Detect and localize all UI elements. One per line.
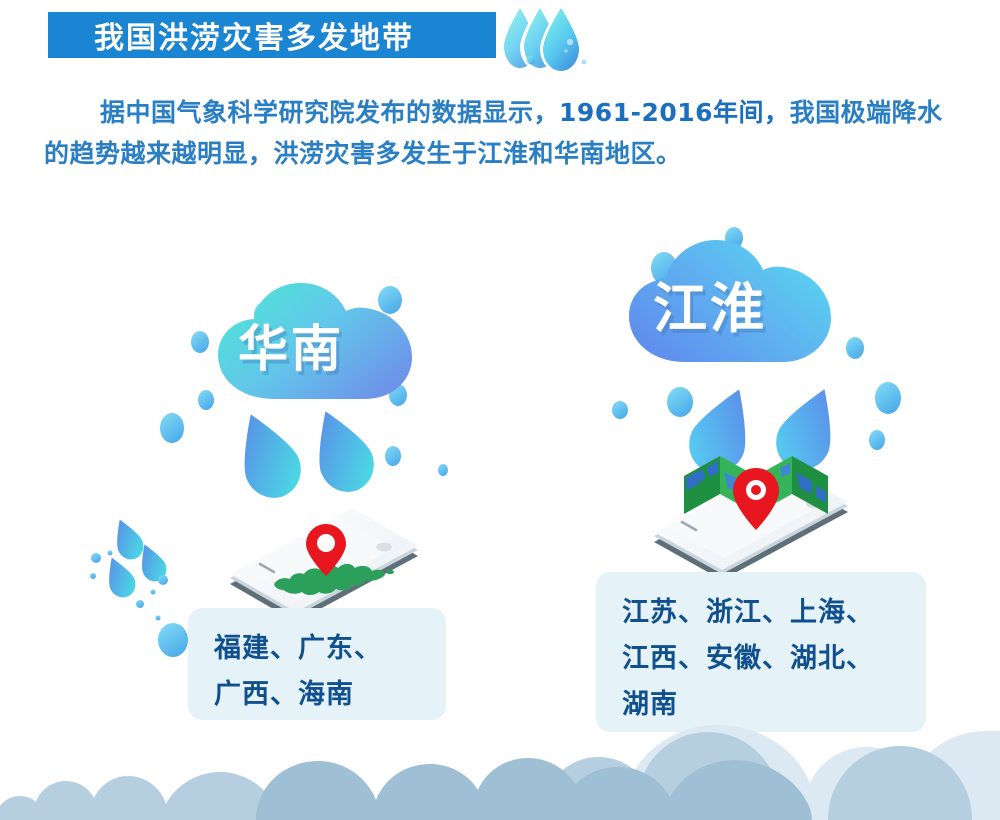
raindrop-icon xyxy=(225,404,310,507)
bubble-icon xyxy=(136,600,144,608)
infographic-canvas: 我国洪涝灾害多发地带 据中国气象科学研究院发布的数据显示，1961-2016年间… xyxy=(0,0,1000,820)
bubble-icon xyxy=(158,623,188,657)
bubble-icon xyxy=(91,553,101,563)
phone-with-folded-map-and-pin-icon xyxy=(648,446,854,586)
bubble-icon xyxy=(90,573,96,579)
page-title: 我国洪涝灾害多发地带 xyxy=(48,13,414,57)
bubble-icon xyxy=(156,616,161,621)
cloud-label-jianghuai: 江淮 xyxy=(653,264,767,343)
intro-paragraph: 据中国气象科学研究院发布的数据显示，1961-2016年间，我国极端降水的趋势越… xyxy=(44,92,944,174)
bubble-icon xyxy=(108,551,113,556)
raindrop-icon xyxy=(108,515,148,564)
bubble-icon xyxy=(158,575,168,585)
bubble-icon xyxy=(846,337,864,359)
bottom-cloud-decoration xyxy=(0,675,1000,820)
bubble-icon xyxy=(667,387,693,417)
page-title-bar: 我国洪涝灾害多发地带 xyxy=(48,12,496,58)
bubble-icon xyxy=(151,590,156,595)
raindrop-icon xyxy=(100,553,140,602)
region-cloud-huanan: 华南 xyxy=(212,283,424,401)
bubble-icon xyxy=(191,331,209,353)
bubble-icon xyxy=(385,446,401,466)
bubble-icon xyxy=(869,430,885,450)
cloud-label-huanan: 华南 xyxy=(238,309,344,381)
region-cloud-jianghuai: 江淮 xyxy=(625,240,840,364)
intro-highlight: 1961-2016年间， xyxy=(559,98,790,127)
raindrop-icon xyxy=(133,540,170,585)
bubble-icon xyxy=(612,401,628,419)
water-drops-icon xyxy=(498,4,594,74)
raindrop-icon xyxy=(300,401,382,500)
bubble-icon xyxy=(160,413,184,443)
intro-lead: 据中国气象科学研究院发布的数据显示， xyxy=(100,98,559,127)
province-line: 江苏、浙江、上海、 xyxy=(622,590,904,636)
province-line: 福建、广东、 xyxy=(214,626,424,672)
bubble-icon xyxy=(247,448,273,478)
bubble-icon xyxy=(438,464,448,476)
bubble-icon xyxy=(875,382,901,414)
